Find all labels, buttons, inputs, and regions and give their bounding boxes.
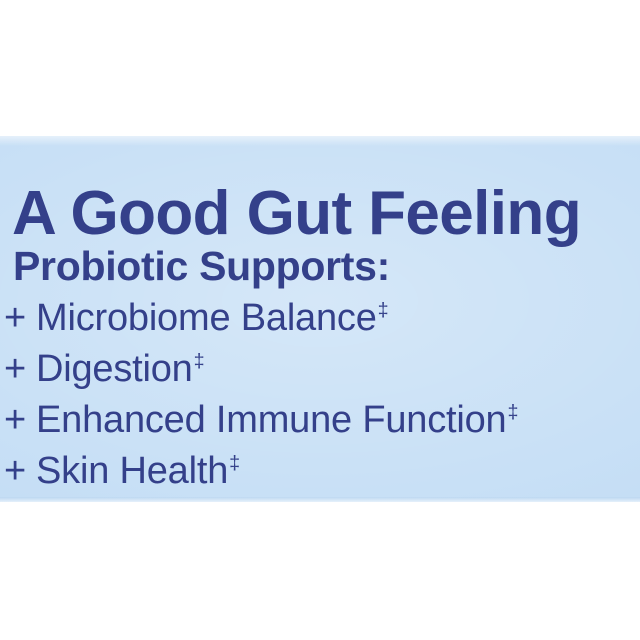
benefits-list: +Microbiome Balance‡ +Digestion‡ +Enhanc… <box>4 293 518 497</box>
list-item: +Enhanced Immune Function‡ <box>4 395 518 446</box>
benefit-label: Enhanced Immune Function <box>36 399 506 441</box>
plus-icon: + <box>4 395 36 446</box>
double-dagger-icon: ‡ <box>378 299 389 321</box>
subheading: Probiotic Supports: <box>13 246 390 287</box>
panel-bottom-edge <box>0 497 640 502</box>
double-dagger-icon: ‡ <box>194 350 205 372</box>
plus-icon: + <box>4 446 36 497</box>
double-dagger-icon: ‡ <box>507 401 518 423</box>
benefit-label: Skin Health <box>36 450 228 492</box>
benefit-label: Microbiome Balance <box>36 297 377 339</box>
list-item: +Microbiome Balance‡ <box>4 293 518 344</box>
plus-icon: + <box>4 344 36 395</box>
product-claims-panel: A Good Gut Feeling Probiotic Supports: +… <box>0 136 640 502</box>
benefit-label: Digestion <box>36 348 193 390</box>
panel-top-sheen <box>0 136 640 146</box>
list-item: +Digestion‡ <box>4 344 518 395</box>
page-title: A Good Gut Feeling <box>12 183 581 245</box>
plus-icon: + <box>4 293 36 344</box>
double-dagger-icon: ‡ <box>229 452 240 474</box>
list-item: +Skin Health‡ <box>4 446 518 497</box>
